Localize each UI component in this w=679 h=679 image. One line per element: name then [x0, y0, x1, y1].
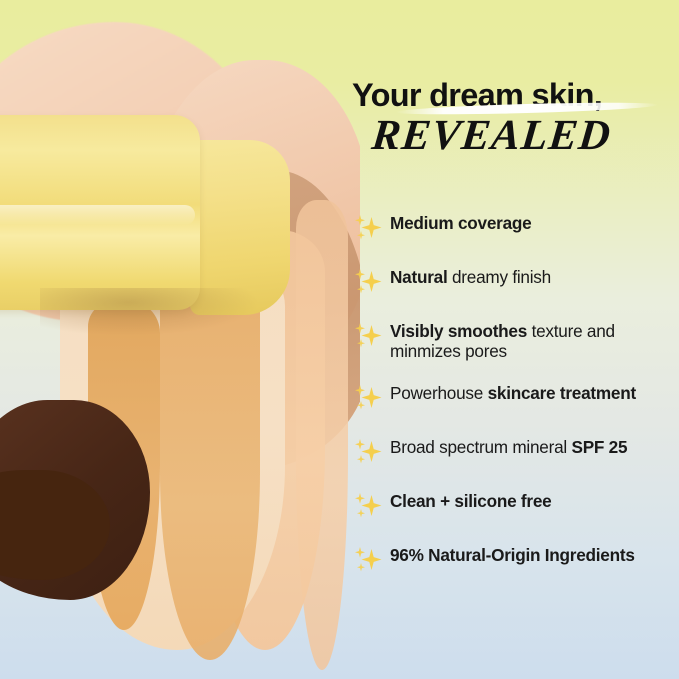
- list-item-text: Clean + silicone free: [390, 488, 551, 511]
- list-item-text: Medium coverage: [390, 210, 531, 233]
- list-item-regular: Powerhouse: [390, 383, 488, 403]
- sparkle-icon: [352, 381, 386, 415]
- sparkle-icon: [352, 211, 386, 245]
- sparkle-icon: [352, 435, 386, 469]
- list-item: Medium coverage: [352, 210, 677, 245]
- headline-block: Your dream skin, REVEALED: [352, 78, 672, 157]
- list-item-bold: Medium coverage: [390, 213, 531, 233]
- list-item-text: Visibly smoothes texture and minmizes po…: [390, 318, 677, 361]
- list-item-text: Broad spectrum mineral SPF 25: [390, 434, 627, 457]
- sparkle-icon: [352, 543, 386, 577]
- headline-line-2: REVEALED: [370, 114, 675, 157]
- list-item: 96% Natural-Origin Ingredients: [352, 542, 677, 577]
- product-ad-banner: Your dream skin, REVEALED Medium coverag…: [0, 0, 679, 679]
- list-item-bold: skincare treatment: [488, 383, 636, 403]
- product-tube-shadow: [40, 288, 260, 336]
- marketing-copy-panel: Your dream skin, REVEALED Medium coverag…: [344, 0, 679, 679]
- benefits-list: Medium coverage Natural dreamy finish: [352, 210, 677, 596]
- sparkle-icon: [352, 265, 386, 299]
- list-item: Powerhouse skincare treatment: [352, 380, 677, 415]
- product-artwork: [0, 0, 360, 679]
- list-item-text: Powerhouse skincare treatment: [390, 380, 636, 403]
- list-item-bold: SPF 25: [571, 437, 627, 457]
- list-item: Broad spectrum mineral SPF 25: [352, 434, 677, 469]
- sparkle-icon: [352, 319, 386, 353]
- sparkle-icon: [352, 489, 386, 523]
- list-item-bold: Visibly smoothes: [390, 321, 527, 341]
- list-item-regular: dreamy finish: [447, 267, 551, 287]
- list-item-bold: Clean + silicone free: [390, 491, 551, 511]
- list-item-text: Natural dreamy finish: [390, 264, 551, 287]
- list-item: Visibly smoothes texture and minmizes po…: [352, 318, 677, 361]
- list-item-regular: Broad spectrum mineral: [390, 437, 571, 457]
- list-item: Clean + silicone free: [352, 488, 677, 523]
- list-item-bold: Natural: [390, 267, 447, 287]
- list-item-text: 96% Natural-Origin Ingredients: [390, 542, 635, 565]
- list-item: Natural dreamy finish: [352, 264, 677, 299]
- product-tube-highlight: [0, 205, 195, 225]
- list-item-bold: 96% Natural-Origin Ingredients: [390, 545, 635, 565]
